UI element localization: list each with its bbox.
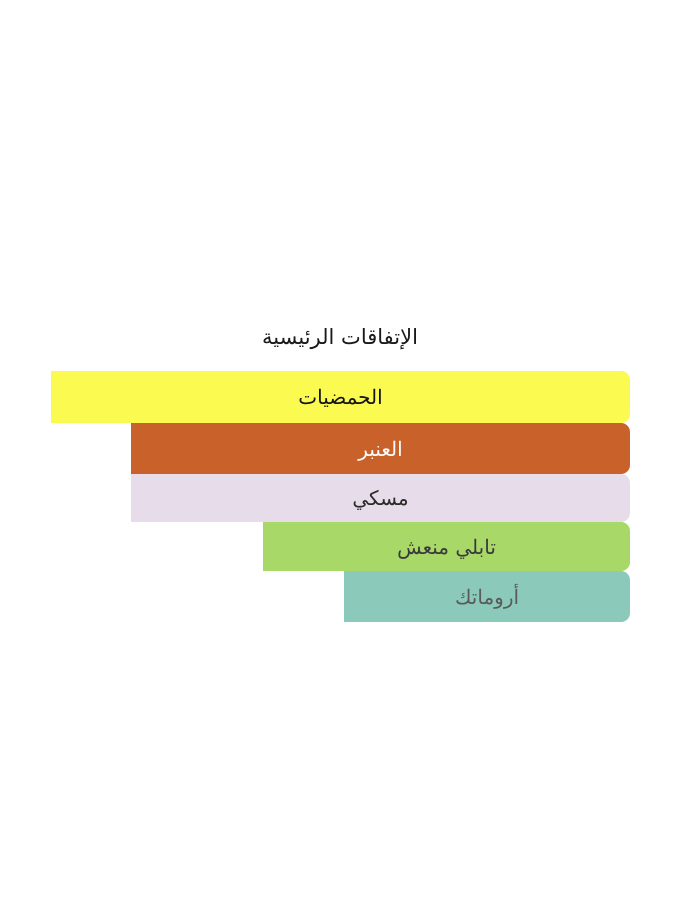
bar-label-spicy-fresh: تابلي منعش — [263, 537, 630, 557]
bar-label-musky: مسكي — [131, 488, 630, 508]
horizontal-bar-chart: الإتفاقات الرئيسية الحمضيات العنبر مسكي … — [0, 0, 680, 900]
bar-label-amber: العنبر — [131, 439, 630, 459]
bar-label-aromatic: أروماتك — [344, 587, 630, 607]
bar-row-spicy-fresh[interactable]: تابلي منعش — [263, 522, 630, 571]
bar-row-citrus[interactable]: الحمضيات — [51, 371, 630, 423]
chart-title: الإتفاقات الرئيسية — [0, 322, 680, 352]
slide-canvas: الإتفاقات الرئيسية الحمضيات العنبر مسكي … — [0, 0, 680, 900]
bar-series: الحمضيات العنبر مسكي تابلي منعش أروماتك — [0, 371, 680, 623]
bar-label-citrus: الحمضيات — [51, 387, 630, 407]
bar-row-amber[interactable]: العنبر — [131, 423, 630, 474]
bar-row-musky[interactable]: مسكي — [131, 474, 630, 522]
bar-row-aromatic[interactable]: أروماتك — [344, 571, 630, 622]
